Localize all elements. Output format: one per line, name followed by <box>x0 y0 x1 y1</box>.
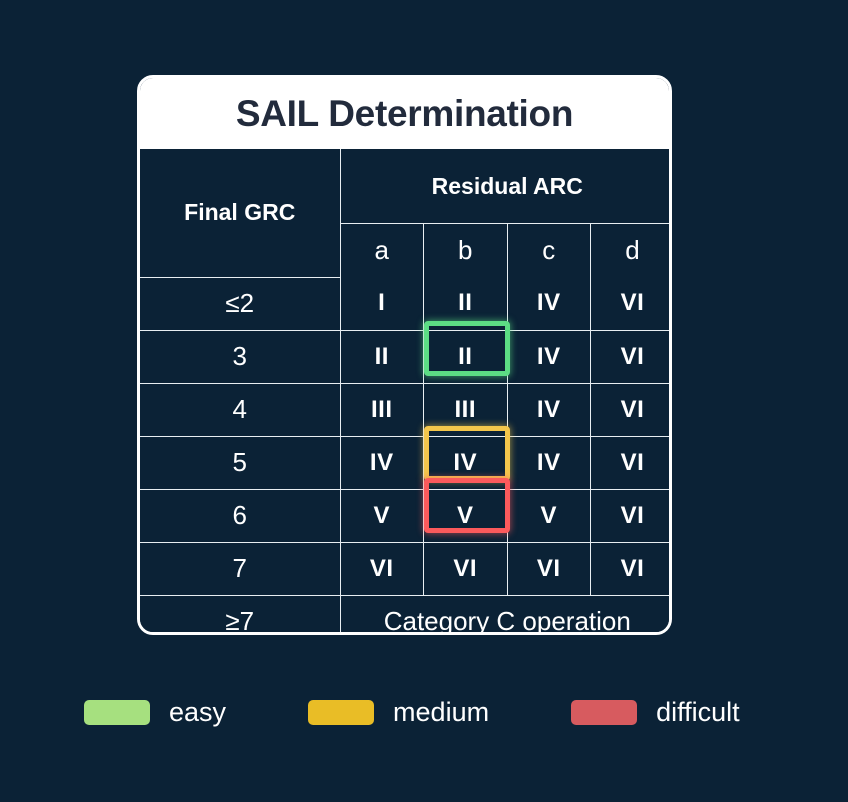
cell-value: IV <box>340 436 424 489</box>
table-footer-row: ≥7 Category C operation <box>140 595 672 635</box>
header-column-c: c <box>507 224 591 278</box>
legend-label-easy: easy <box>169 697 226 728</box>
table-row: 3 II II IV VI <box>140 330 672 383</box>
table-row: 6 V V V VI <box>140 489 672 542</box>
cell-value: VI <box>424 542 508 595</box>
legend-label-medium: medium <box>393 697 489 728</box>
row-label: ≥7 <box>140 595 340 635</box>
row-label: 3 <box>140 330 340 383</box>
cell-value: VI <box>591 277 673 330</box>
cell-value-highlighted-medium: IV <box>424 436 508 489</box>
legend-label-difficult: difficult <box>656 697 740 728</box>
table-head: Final GRC Residual ARC a b c d <box>140 149 672 277</box>
category-c-operation-cell: Category C operation <box>340 595 672 635</box>
cell-value: VI <box>591 436 673 489</box>
table-header-row-group: Final GRC Residual ARC <box>140 149 672 224</box>
table-row: ≤2 I II IV VI <box>140 277 672 330</box>
table-row: 7 VI VI VI VI <box>140 542 672 595</box>
header-residual-arc: Residual ARC <box>340 149 672 224</box>
legend-item-medium: medium <box>308 697 489 728</box>
legend-item-difficult: difficult <box>571 697 740 728</box>
cell-value: IV <box>507 436 591 489</box>
legend-item-easy: easy <box>84 697 226 728</box>
cell-value: VI <box>591 489 673 542</box>
cell-value: V <box>507 489 591 542</box>
cell-value: II <box>340 330 424 383</box>
cell-value: III <box>424 383 508 436</box>
cell-value: I <box>340 277 424 330</box>
cell-value: IV <box>507 383 591 436</box>
row-label: 4 <box>140 383 340 436</box>
sail-determination-table: Final GRC Residual ARC a b c d ≤2 I II I… <box>140 149 672 635</box>
cell-value: IV <box>507 277 591 330</box>
header-final-grc: Final GRC <box>140 149 340 277</box>
row-label: 5 <box>140 436 340 489</box>
cell-value: VI <box>591 383 673 436</box>
header-column-d: d <box>591 224 673 278</box>
cell-value: V <box>340 489 424 542</box>
sail-determination-card: SAIL Determination Final GRC Residual AR… <box>137 75 672 635</box>
cell-value-highlighted-difficult: V <box>424 489 508 542</box>
page-title: SAIL Determination <box>236 95 573 132</box>
card-title-bar: SAIL Determination <box>140 78 669 149</box>
table-row: 4 III III IV VI <box>140 383 672 436</box>
legend-swatch-medium <box>308 700 374 725</box>
cell-value: VI <box>507 542 591 595</box>
legend-swatch-easy <box>84 700 150 725</box>
cell-value-highlighted-easy: II <box>424 330 508 383</box>
legend: easy medium difficult <box>84 696 774 728</box>
cell-value: IV <box>507 330 591 383</box>
cell-value: III <box>340 383 424 436</box>
row-label: 7 <box>140 542 340 595</box>
header-column-a: a <box>340 224 424 278</box>
legend-swatch-difficult <box>571 700 637 725</box>
header-column-b: b <box>424 224 508 278</box>
row-label: ≤2 <box>140 277 340 330</box>
cell-value: VI <box>591 330 673 383</box>
cell-value: II <box>424 277 508 330</box>
cell-value: VI <box>591 542 673 595</box>
table-body: ≤2 I II IV VI 3 II II IV VI 4 III III IV… <box>140 277 672 635</box>
row-label: 6 <box>140 489 340 542</box>
table-row: 5 IV IV IV VI <box>140 436 672 489</box>
cell-value: VI <box>340 542 424 595</box>
